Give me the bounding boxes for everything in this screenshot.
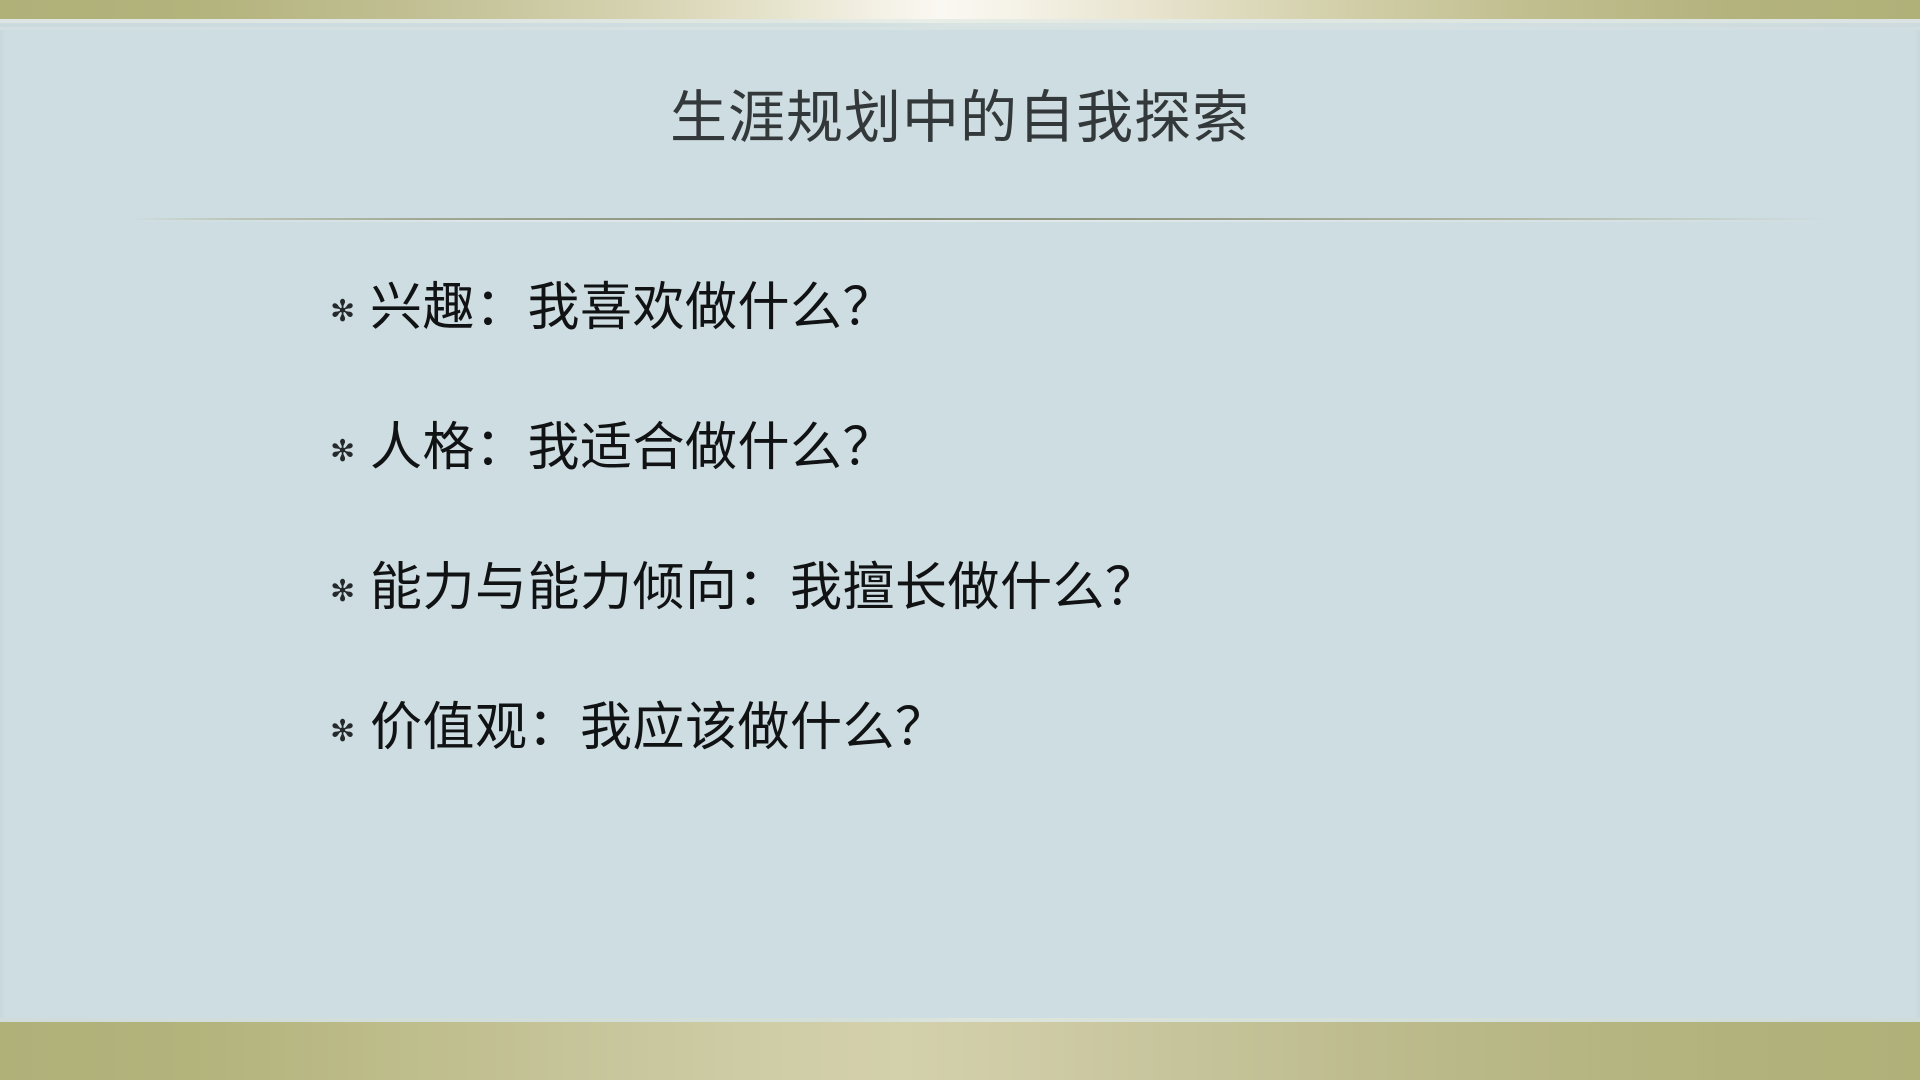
asterisk-bullet-icon: ✻ bbox=[330, 437, 370, 467]
slide-canvas: 生涯规划中的自我探索 ✻ 兴趣：我喜欢做什么？ ✻ 人格：我适合做什么？ ✻ 能… bbox=[0, 0, 1920, 1080]
list-item: ✻ 人格：我适合做什么？ bbox=[330, 412, 1830, 484]
title-divider-highlight bbox=[130, 220, 1830, 222]
top-band-highlight-3 bbox=[0, 27, 1920, 30]
asterisk-bullet-icon: ✻ bbox=[330, 577, 370, 607]
slide-title: 生涯规划中的自我探索 bbox=[0, 78, 1920, 158]
bullet-list: ✻ 兴趣：我喜欢做什么？ ✻ 人格：我适合做什么？ ✻ 能力与能力倾向：我擅长做… bbox=[330, 272, 1830, 764]
asterisk-bullet-icon: ✻ bbox=[330, 717, 370, 747]
list-item-label: 价值观：我应该做什么？ bbox=[370, 692, 948, 764]
list-item-label: 人格：我适合做什么？ bbox=[370, 412, 895, 484]
left-edge-shading bbox=[0, 30, 6, 1018]
list-item-label: 兴趣：我喜欢做什么？ bbox=[370, 272, 895, 344]
list-item: ✻ 兴趣：我喜欢做什么？ bbox=[330, 272, 1830, 344]
right-edge-shading bbox=[1914, 30, 1920, 1018]
asterisk-bullet-icon: ✻ bbox=[330, 297, 370, 327]
bottom-decorative-band bbox=[0, 1022, 1920, 1080]
list-item: ✻ 能力与能力倾向：我擅长做什么？ bbox=[330, 552, 1830, 624]
list-item-label: 能力与能力倾向：我擅长做什么？ bbox=[370, 552, 1158, 624]
list-item: ✻ 价值观：我应该做什么？ bbox=[330, 692, 1830, 764]
top-decorative-band bbox=[0, 0, 1920, 19]
